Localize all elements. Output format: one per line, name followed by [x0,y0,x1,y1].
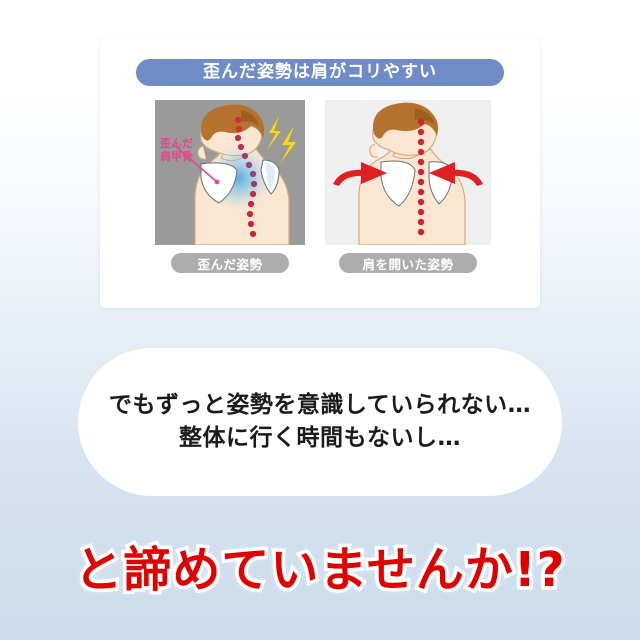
caption-good-posture-label: 肩を開いた姿勢 [362,254,453,273]
bad-posture-svg [155,100,305,245]
banner-headline: 歪んだ姿勢は肩がコリやすい [136,59,504,86]
caption-bad-posture: 歪んだ姿勢 [171,253,289,273]
info-card: 歪んだ姿勢は肩がコリやすい [100,38,540,308]
scapula-annotation: 歪んだ 肩甲骨 [160,138,193,163]
banner-label: 歪んだ姿勢は肩がコリやすい [203,64,437,81]
headline: と諦めていませんか!? [0,536,640,604]
bubble-line-1: でもずっと姿勢を意識していられない… [109,389,531,422]
good-posture-svg [325,100,491,245]
lightning-bolt-icon [267,116,296,164]
bubble-line-2: 整体に行く時間もないし… [179,422,461,455]
caption-good-posture: 肩を開いた姿勢 [339,253,477,273]
headline-label: と諦めていませんか!? [74,546,565,594]
caption-bad-posture-label: 歪んだ姿勢 [197,254,262,273]
illustration-bad-posture: 歪んだ 肩甲骨 [155,100,305,245]
annotation-line-2: 肩甲骨 [160,151,193,164]
illustration-good-posture [325,100,491,245]
speech-bubble: でもずっと姿勢を意識していられない… 整体に行く時間もないし… [78,348,562,496]
annotation-line-1: 歪んだ [160,138,193,151]
panel-good-posture: 肩を開いた姿勢 [325,100,491,273]
panel-bad-posture: 歪んだ 肩甲骨 歪んだ姿勢 [155,100,305,273]
